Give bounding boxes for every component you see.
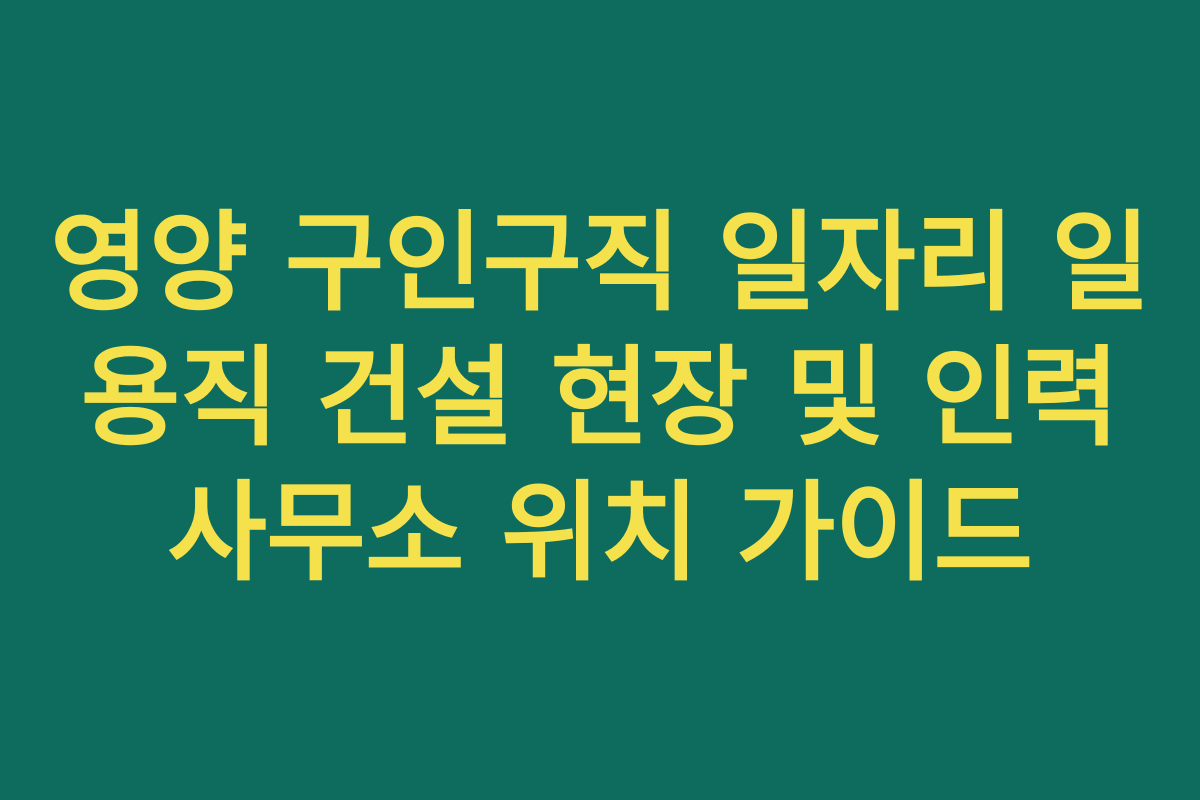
banner-canvas: 영양 구인구직 일자리 일 용직 건설 현장 및 인력 사무소 위치 가이드: [0, 0, 1200, 800]
headline-line-1: 영양 구인구직 일자리 일: [40, 196, 1160, 331]
headline-line-3: 사무소 위치 가이드: [40, 466, 1160, 601]
page-title: 영양 구인구직 일자리 일 용직 건설 현장 및 인력 사무소 위치 가이드: [0, 196, 1200, 601]
headline-line-2: 용직 건설 현장 및 인력: [40, 331, 1160, 466]
